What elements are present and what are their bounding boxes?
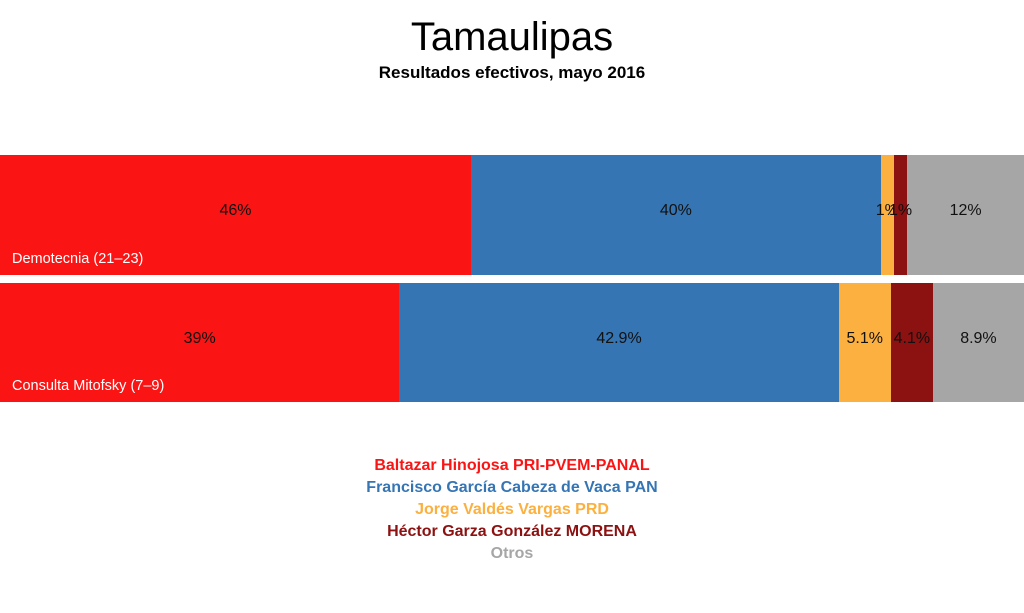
segment-value-label: 12% (907, 155, 1024, 267)
page-title: Tamaulipas (0, 14, 1024, 60)
bar-row: 46%40%1%1%12%Demotecnia (21–23) (0, 155, 1024, 275)
legend-entry: Francisco García Cabeza de Vaca PAN (0, 477, 1024, 499)
legend-entry: Otros (0, 543, 1024, 565)
pollster-label: Consulta Mitofsky (7–9) (12, 378, 164, 394)
bar-segment-pan[interactable]: 42.9% (399, 283, 838, 402)
bar-segment-otros[interactable]: 12% (907, 155, 1024, 275)
pollster-label: Demotecnia (21–23) (12, 251, 143, 267)
bar-segment-morena[interactable]: 4.1% (891, 283, 933, 402)
legend-entry: Baltazar Hinojosa PRI-PVEM-PANAL (0, 455, 1024, 477)
segment-value-label: 40% (471, 155, 881, 267)
bar-segment-prd[interactable]: 5.1% (839, 283, 891, 402)
bar-segment-prd[interactable]: 1% (881, 155, 894, 275)
segment-value-label: 42.9% (399, 283, 838, 395)
chart-subtitle: Resultados efectivos, mayo 2016 (0, 62, 1024, 84)
legend-entry: Jorge Valdés Vargas PRD (0, 499, 1024, 521)
segment-value-label: 8.9% (933, 283, 1024, 395)
legend-entry: Héctor Garza González MORENA (0, 521, 1024, 543)
bar-segment-pan[interactable]: 40% (471, 155, 881, 275)
chart-legend: Baltazar Hinojosa PRI-PVEM-PANALFrancisc… (0, 455, 1024, 565)
segment-value-label: 5.1% (839, 283, 891, 395)
chart-header: Tamaulipas Resultados efectivos, mayo 20… (0, 14, 1024, 84)
bar-row: 39%42.9%5.1%4.1%8.9%Consulta Mitofsky (7… (0, 283, 1024, 402)
bar-segment-morena[interactable]: 1% (894, 155, 907, 275)
bar-segment-otros[interactable]: 8.9% (933, 283, 1024, 402)
